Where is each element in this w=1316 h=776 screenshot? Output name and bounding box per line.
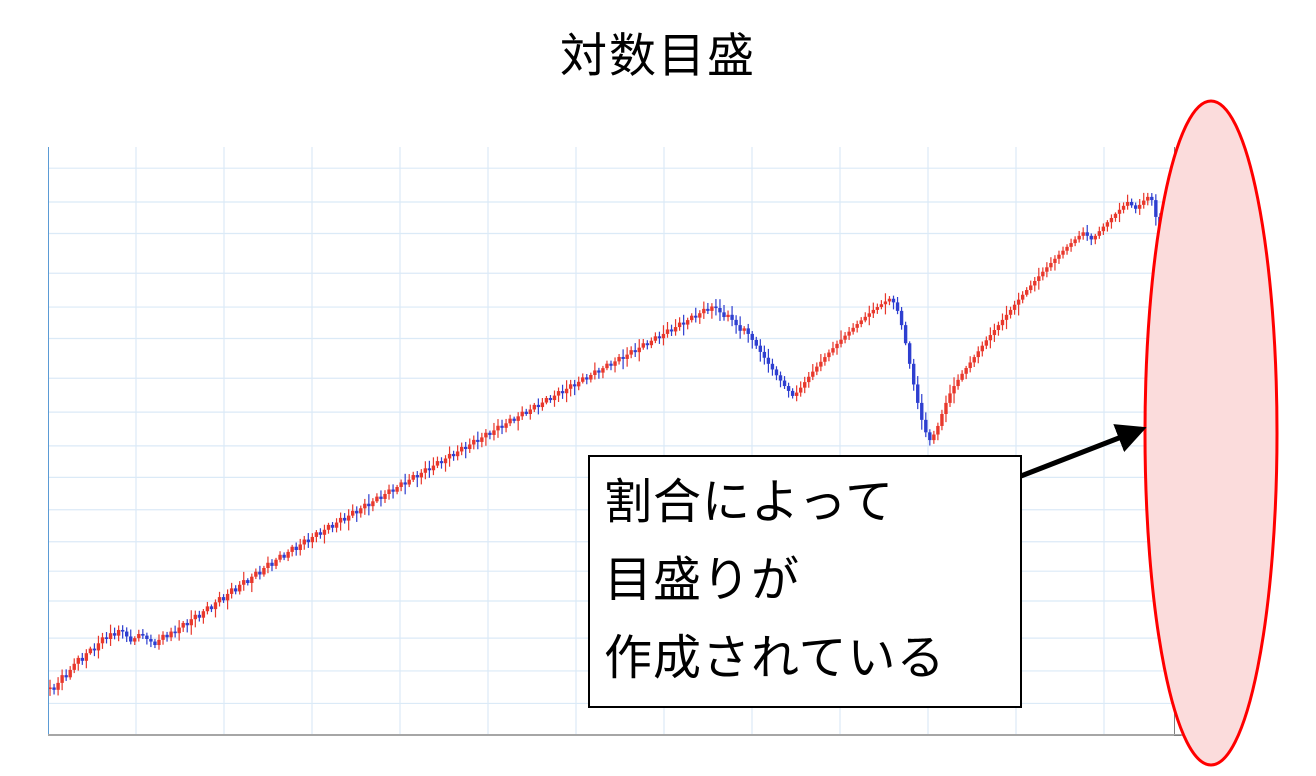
candle-body — [436, 461, 439, 466]
candle-body — [557, 391, 560, 396]
candle-body — [1098, 231, 1101, 236]
candle-body — [286, 552, 289, 558]
candle-body — [831, 348, 834, 352]
candle-body — [403, 482, 406, 484]
candle-body — [755, 340, 758, 346]
candle-body — [1073, 239, 1076, 243]
candle-body — [347, 516, 350, 521]
candle-body — [89, 649, 92, 654]
candle-body — [674, 327, 677, 331]
candle-body — [1162, 214, 1165, 227]
candle-body — [190, 619, 193, 625]
y-axis-tick: 95.00 — [1174, 727, 1220, 743]
candle-body — [60, 675, 63, 683]
candle-body — [581, 377, 584, 381]
candle-body — [767, 358, 770, 364]
candle-body — [375, 497, 378, 502]
candle-body — [77, 658, 80, 664]
candle-body — [262, 568, 265, 574]
candle-body — [149, 639, 152, 642]
candle-body — [1021, 295, 1024, 300]
candle-body — [105, 637, 108, 639]
candle-body — [521, 412, 524, 417]
candle-body — [779, 375, 782, 380]
candle-body — [85, 653, 88, 661]
candle-body — [884, 301, 887, 304]
candle-body — [537, 405, 540, 407]
candle-body — [763, 352, 766, 358]
candle-body — [226, 594, 229, 600]
candle-body — [585, 377, 588, 379]
candle-body — [787, 386, 790, 391]
candle-body — [638, 348, 641, 353]
candle-body — [589, 375, 592, 380]
candle-body — [254, 572, 257, 577]
candle-body — [64, 675, 67, 677]
candle-body — [383, 494, 386, 499]
candle-body — [1041, 272, 1044, 277]
candle-body — [698, 313, 701, 317]
candle-body — [468, 444, 471, 449]
candle-body — [1077, 236, 1080, 240]
candle-body — [1001, 320, 1004, 325]
candle-body — [1005, 315, 1008, 320]
candle-body — [977, 351, 980, 357]
candle-body — [904, 325, 907, 343]
candle-body — [843, 336, 846, 340]
y-axis-tick-label: 230.00 — [1186, 593, 1227, 610]
annotation-line-2: 目盛りが — [604, 541, 1020, 619]
tick-mark — [1174, 338, 1181, 339]
candle-body — [182, 623, 185, 628]
candle-body — [335, 523, 338, 528]
candle-body — [504, 423, 507, 428]
candle-body — [484, 433, 487, 438]
candle-body — [973, 357, 976, 362]
candle-body — [960, 374, 963, 380]
candle-body — [1053, 259, 1056, 263]
candle-body — [391, 490, 394, 492]
candle-body — [339, 518, 342, 523]
candle-body — [553, 396, 556, 400]
candle-body — [210, 606, 213, 609]
candle-body — [912, 364, 915, 385]
candle-body — [851, 328, 854, 332]
candle-body — [896, 302, 899, 311]
candle-body — [315, 532, 318, 537]
candle-body — [738, 325, 741, 331]
candle-body — [420, 473, 423, 478]
y-axis-tick-label: 3200.00 — [1186, 193, 1235, 210]
candle-body — [52, 687, 55, 689]
candle-body — [145, 636, 148, 639]
y-axis-tick: 230.00 — [1174, 593, 1227, 609]
candle-body — [876, 307, 879, 310]
candle-body — [81, 658, 84, 661]
candle-body — [835, 344, 838, 348]
candle-body — [274, 560, 277, 566]
candle-body — [1037, 276, 1040, 281]
candle-body — [625, 355, 628, 359]
candle-body — [860, 320, 863, 324]
y-axis-tick-label: 1000.00 — [1186, 370, 1235, 387]
candle-body — [109, 633, 112, 639]
candle-body — [1122, 206, 1125, 210]
candle-body — [997, 325, 1000, 330]
tick-mark — [1174, 378, 1181, 379]
candle-body — [1130, 202, 1133, 205]
candle-body — [819, 362, 822, 367]
tick-mark — [1174, 601, 1181, 602]
slide-canvas: 対数目盛 4000.003200.002600.002000.001600.00… — [0, 0, 1316, 776]
y-axis-tick-label: 2000.00 — [1186, 265, 1235, 282]
candle-body — [742, 328, 745, 330]
candle-body — [646, 343, 649, 345]
candle-body — [250, 577, 253, 583]
candle-body — [694, 316, 697, 318]
candle-body — [464, 447, 467, 449]
candle-body — [916, 384, 919, 402]
candle-body — [678, 323, 681, 327]
candle-body — [1138, 205, 1141, 209]
candle-body — [290, 547, 293, 552]
candle-body — [93, 649, 96, 651]
candle-body — [1134, 205, 1137, 208]
candle-body — [1094, 236, 1097, 240]
tick-mark — [1174, 307, 1181, 308]
y-axis-tick: 180.00 — [1174, 630, 1227, 646]
candle-body — [908, 343, 911, 364]
candle-body — [218, 597, 221, 602]
candle-body — [480, 437, 483, 442]
candle-body — [367, 504, 370, 506]
candle-body — [928, 432, 931, 440]
candle-body — [920, 403, 923, 420]
candle-body — [924, 420, 927, 432]
candle-body — [1017, 300, 1020, 305]
candle-body — [97, 643, 100, 650]
candle-body — [706, 309, 709, 311]
candle-body — [815, 367, 818, 372]
candle-body — [137, 634, 140, 638]
y-axis-tick-label: 1600.00 — [1186, 299, 1235, 316]
candle-body — [246, 580, 249, 583]
candle-body — [702, 309, 705, 313]
candle-body — [807, 377, 810, 382]
candle-body — [932, 435, 935, 441]
candle-body — [1114, 214, 1117, 218]
candle-body — [472, 440, 475, 445]
candle-body — [1013, 305, 1016, 310]
candle-body — [956, 380, 959, 386]
candle-body — [69, 670, 72, 677]
candle-body — [1069, 243, 1072, 247]
candle-body — [799, 388, 802, 393]
candle-body — [488, 433, 491, 435]
candle-body — [936, 426, 939, 435]
candle-body — [577, 382, 580, 387]
tick-mark — [1174, 670, 1181, 671]
candle-body — [872, 310, 875, 313]
candle-body — [117, 630, 120, 636]
candle-body — [230, 588, 233, 594]
tick-mark — [1174, 735, 1181, 736]
candle-body — [642, 343, 645, 347]
annotation-line-1: 割合によって — [604, 463, 1020, 541]
candle-body — [299, 544, 302, 550]
candle-body — [266, 563, 269, 568]
candle-body — [516, 416, 519, 421]
candle-body — [561, 391, 564, 393]
candle-body — [1045, 267, 1048, 271]
candle-body — [811, 372, 814, 377]
candle-body — [311, 537, 314, 542]
candle-body — [1033, 281, 1036, 285]
candle-body — [771, 364, 774, 370]
candle-body — [993, 330, 996, 335]
y-axis-tick-label: 145.00 — [1186, 662, 1227, 679]
candle-body — [194, 615, 197, 619]
candle-body — [1029, 285, 1032, 290]
candle-body — [395, 487, 398, 492]
candle-body — [355, 511, 358, 514]
candle-body — [900, 311, 903, 325]
candle-body — [416, 475, 419, 477]
tick-mark — [1174, 273, 1181, 274]
candle-body — [1142, 201, 1145, 205]
candle-body — [141, 634, 144, 636]
candle-body — [295, 547, 298, 550]
candle-body — [319, 532, 322, 535]
candle-body — [270, 563, 273, 566]
candle-body — [593, 370, 596, 375]
candle-body — [1057, 255, 1060, 259]
candle-body — [1158, 217, 1161, 228]
candle-body — [198, 615, 201, 618]
y-axis-tick-label: 95.00 — [1186, 727, 1220, 744]
candle-body — [165, 635, 168, 637]
tick-mark — [1174, 638, 1181, 639]
candle-body — [432, 466, 435, 471]
candle-body — [508, 419, 511, 424]
candle-body — [1009, 310, 1012, 315]
candle-body — [952, 386, 955, 393]
tick-mark — [1174, 201, 1181, 202]
candle-body — [759, 346, 762, 352]
candle-body — [1065, 247, 1068, 251]
candle-body — [730, 315, 733, 320]
candle-body — [823, 357, 826, 362]
candle-body — [985, 340, 988, 345]
candle-body — [379, 497, 382, 499]
candle-body — [1049, 263, 1052, 267]
candle-body — [456, 451, 459, 456]
candle-body — [363, 504, 366, 509]
candle-body — [331, 525, 334, 528]
candle-body — [125, 632, 128, 637]
candle-body — [597, 370, 600, 372]
candle-body — [444, 458, 447, 463]
candle-body — [795, 393, 798, 396]
candle-body — [157, 640, 160, 645]
candle-body — [303, 540, 306, 545]
candle-body — [440, 461, 443, 463]
candle-body — [964, 368, 967, 374]
candle-body — [968, 362, 971, 368]
y-axis-tick: 1300.00 — [1174, 331, 1235, 347]
y-axis-tick: 3200.00 — [1174, 194, 1235, 210]
candle-body — [153, 642, 156, 645]
candle-body — [541, 403, 544, 408]
y-axis-tick-label: 1300.00 — [1186, 330, 1235, 347]
callout-arrow-icon — [1010, 420, 1200, 540]
tick-mark — [1174, 703, 1181, 704]
candle-body — [238, 585, 241, 592]
candle-body — [573, 384, 576, 386]
candle-body — [855, 324, 858, 328]
annotation-line-3: 作成されている — [604, 619, 1020, 697]
y-axis-tick: 280.00 — [1174, 563, 1227, 579]
y-axis-tick-label: 117.00 — [1186, 695, 1227, 712]
candle-body — [133, 638, 136, 641]
candle-body — [169, 632, 172, 638]
candle-body — [605, 364, 608, 368]
candle-body — [351, 511, 354, 516]
candle-body — [1154, 200, 1157, 217]
candle-body — [989, 335, 992, 340]
candle-body — [682, 323, 685, 325]
candle-body — [399, 482, 402, 487]
candle-body — [658, 336, 661, 338]
candle-body — [492, 430, 495, 435]
candle-body — [452, 454, 455, 456]
candle-body — [803, 382, 806, 388]
candle-body — [525, 412, 528, 414]
candle-body — [173, 632, 176, 634]
candle-body — [1081, 232, 1084, 236]
candle-body — [747, 328, 750, 334]
candle-body — [222, 597, 225, 600]
candle-body — [278, 555, 281, 560]
y-axis-tick-label: 180.00 — [1186, 630, 1227, 647]
candle-body — [327, 525, 330, 530]
candle-body — [621, 357, 624, 359]
candle-body — [565, 389, 568, 393]
y-axis-tick: 4000.00 — [1174, 160, 1235, 176]
x-axis-line — [48, 734, 1233, 736]
candle-body — [940, 414, 943, 426]
candle-body — [529, 409, 532, 414]
candle-body — [73, 664, 76, 670]
candle-body — [791, 391, 794, 396]
y-axis-tick-label: 2600.00 — [1186, 225, 1235, 242]
candle-body — [1110, 218, 1113, 222]
candle-body — [1025, 290, 1028, 295]
candle-body — [670, 329, 673, 331]
candle-body — [629, 350, 632, 354]
candle-body — [880, 304, 883, 307]
candle-body — [496, 426, 499, 431]
candle-body — [569, 384, 572, 388]
candle-body — [113, 633, 116, 635]
candle-body — [428, 468, 431, 470]
candle-body — [718, 308, 721, 312]
candle-body — [892, 299, 895, 303]
candle-body — [408, 480, 411, 485]
candle-body — [371, 501, 374, 506]
candle-body — [186, 623, 189, 625]
candle-body — [609, 364, 612, 366]
candle-body — [710, 306, 713, 310]
candle-body — [460, 447, 463, 452]
candle-body — [387, 490, 390, 494]
candle-body — [734, 320, 737, 325]
candle-body — [121, 630, 124, 632]
tick-mark — [1174, 412, 1181, 413]
candle-body — [359, 508, 362, 513]
candle-body — [714, 306, 717, 308]
candle-body — [424, 468, 427, 472]
candle-body — [101, 637, 104, 643]
candle-body — [500, 426, 503, 428]
candle-body — [177, 628, 180, 634]
candle-body — [343, 518, 346, 521]
candle-body — [613, 361, 616, 365]
candle-body — [512, 419, 515, 421]
tick-mark — [1174, 571, 1181, 572]
candle-body — [549, 398, 552, 400]
candle-body — [1061, 251, 1064, 255]
candle-body — [214, 602, 217, 609]
candle-body — [666, 329, 669, 333]
y-axis-tick-label: 800.00 — [1186, 404, 1227, 421]
candle-body — [783, 381, 786, 386]
y-axis-tick: 2600.00 — [1174, 225, 1235, 241]
y-axis-tick: 800.00 — [1174, 404, 1227, 420]
candle-body — [307, 540, 310, 543]
tick-mark — [1174, 233, 1181, 234]
y-axis-tick-label: 4000.00 — [1186, 160, 1235, 177]
candle-body — [726, 315, 729, 317]
candle-body — [202, 611, 205, 617]
y-axis-tick: 2000.00 — [1174, 265, 1235, 281]
candle-body — [690, 316, 693, 320]
candle-body — [864, 317, 867, 321]
candle-body — [258, 572, 261, 575]
candle-body — [206, 606, 209, 611]
tick-mark — [1174, 541, 1181, 542]
candle-body — [981, 346, 984, 352]
annotation-callout-box: 割合によって 目盛りが 作成されている — [588, 455, 1022, 708]
candle-body — [1126, 202, 1129, 206]
candle-body — [868, 313, 871, 316]
candle-body — [654, 336, 657, 340]
tick-mark — [1174, 168, 1181, 169]
candle-body — [634, 350, 637, 352]
candle-body — [1150, 197, 1153, 200]
candle-body — [775, 369, 778, 375]
candle-body — [1102, 227, 1105, 232]
candle-body — [1086, 232, 1089, 236]
candle-body — [948, 393, 951, 403]
y-axis-tick: 1600.00 — [1174, 299, 1235, 315]
candle-body — [323, 530, 326, 535]
page-title: 対数目盛 — [0, 28, 1316, 86]
y-axis-tick: 145.00 — [1174, 663, 1227, 679]
candle-body — [234, 588, 237, 591]
candle-body — [1106, 222, 1109, 226]
candle-body — [476, 440, 479, 442]
